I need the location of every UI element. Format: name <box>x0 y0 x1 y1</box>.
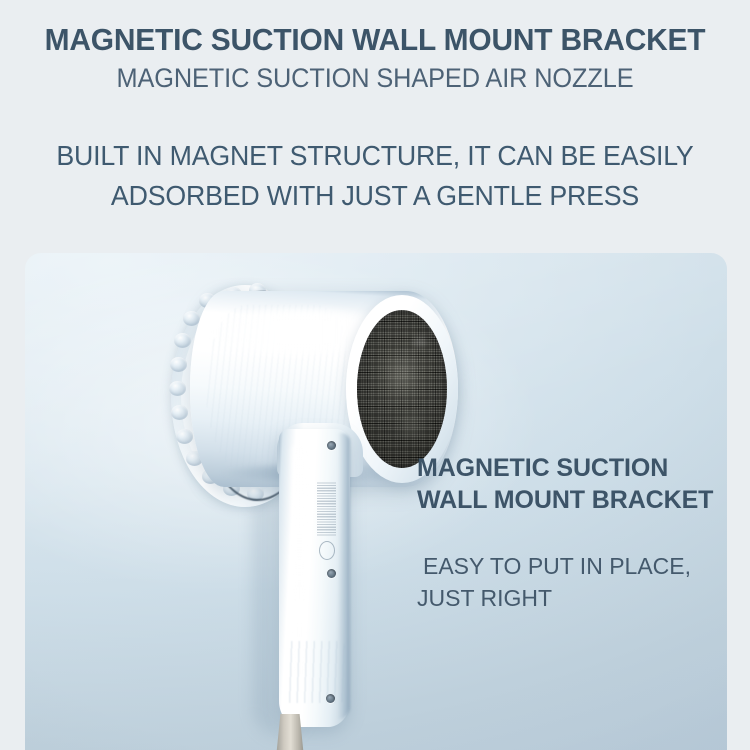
overlay-body: EASY TO PUT IN PLACE, JUST RIGHT <box>417 550 727 614</box>
mesh-specular-highlight <box>407 332 433 352</box>
header-text-block: MAGNETIC SUCTION WALL MOUNT BRACKET MAGN… <box>0 0 750 216</box>
dryer-handle <box>279 429 350 727</box>
product-marketing-banner: MAGNETIC SUCTION WALL MOUNT BRACKET MAGN… <box>0 0 750 750</box>
tagline-block: BUILT IN MAGNET STRUCTURE, IT CAN BE EAS… <box>17 136 733 216</box>
page-title: MAGNETIC SUCTION WALL MOUNT BRACKET <box>13 0 737 60</box>
product-label-print <box>317 481 336 537</box>
photo-overlay-text: MAGNETIC SUCTION WALL MOUNT BRACKET EASY… <box>417 452 727 614</box>
page-subtitle: MAGNETIC SUCTION SHAPED AIR NOZZLE <box>17 60 733 96</box>
certification-mark <box>319 541 335 560</box>
scallop-dimple <box>169 381 186 396</box>
nozzle-mesh-grille <box>357 310 447 468</box>
screw-hole <box>327 441 336 450</box>
scallop-dimple <box>170 357 187 372</box>
overlay-heading: MAGNETIC SUCTION WALL MOUNT BRACKET <box>417 452 727 516</box>
mesh-inner-reflection <box>373 344 429 406</box>
screw-hole <box>326 694 335 703</box>
overlay-heading-line-1: MAGNETIC SUCTION <box>417 452 727 484</box>
overlay-heading-line-2: WALL MOUNT BRACKET <box>417 484 727 516</box>
overlay-body-line-2: JUST RIGHT <box>417 582 727 614</box>
tagline-line-2: ADSORBED WITH JUST A GENTLE PRESS <box>17 176 733 216</box>
handle-edge-shading <box>338 433 350 719</box>
mesh-inner-reflection <box>387 402 435 448</box>
scallop-dimple <box>176 429 193 444</box>
overlay-body-line-1: EASY TO PUT IN PLACE, <box>417 550 727 582</box>
scallop-dimple <box>171 405 188 420</box>
scallop-dimple <box>174 333 191 348</box>
tagline-line-1: BUILT IN MAGNET STRUCTURE, IT CAN BE EAS… <box>17 136 733 176</box>
screw-hole <box>327 569 336 578</box>
handle-grip-texture <box>285 641 345 703</box>
